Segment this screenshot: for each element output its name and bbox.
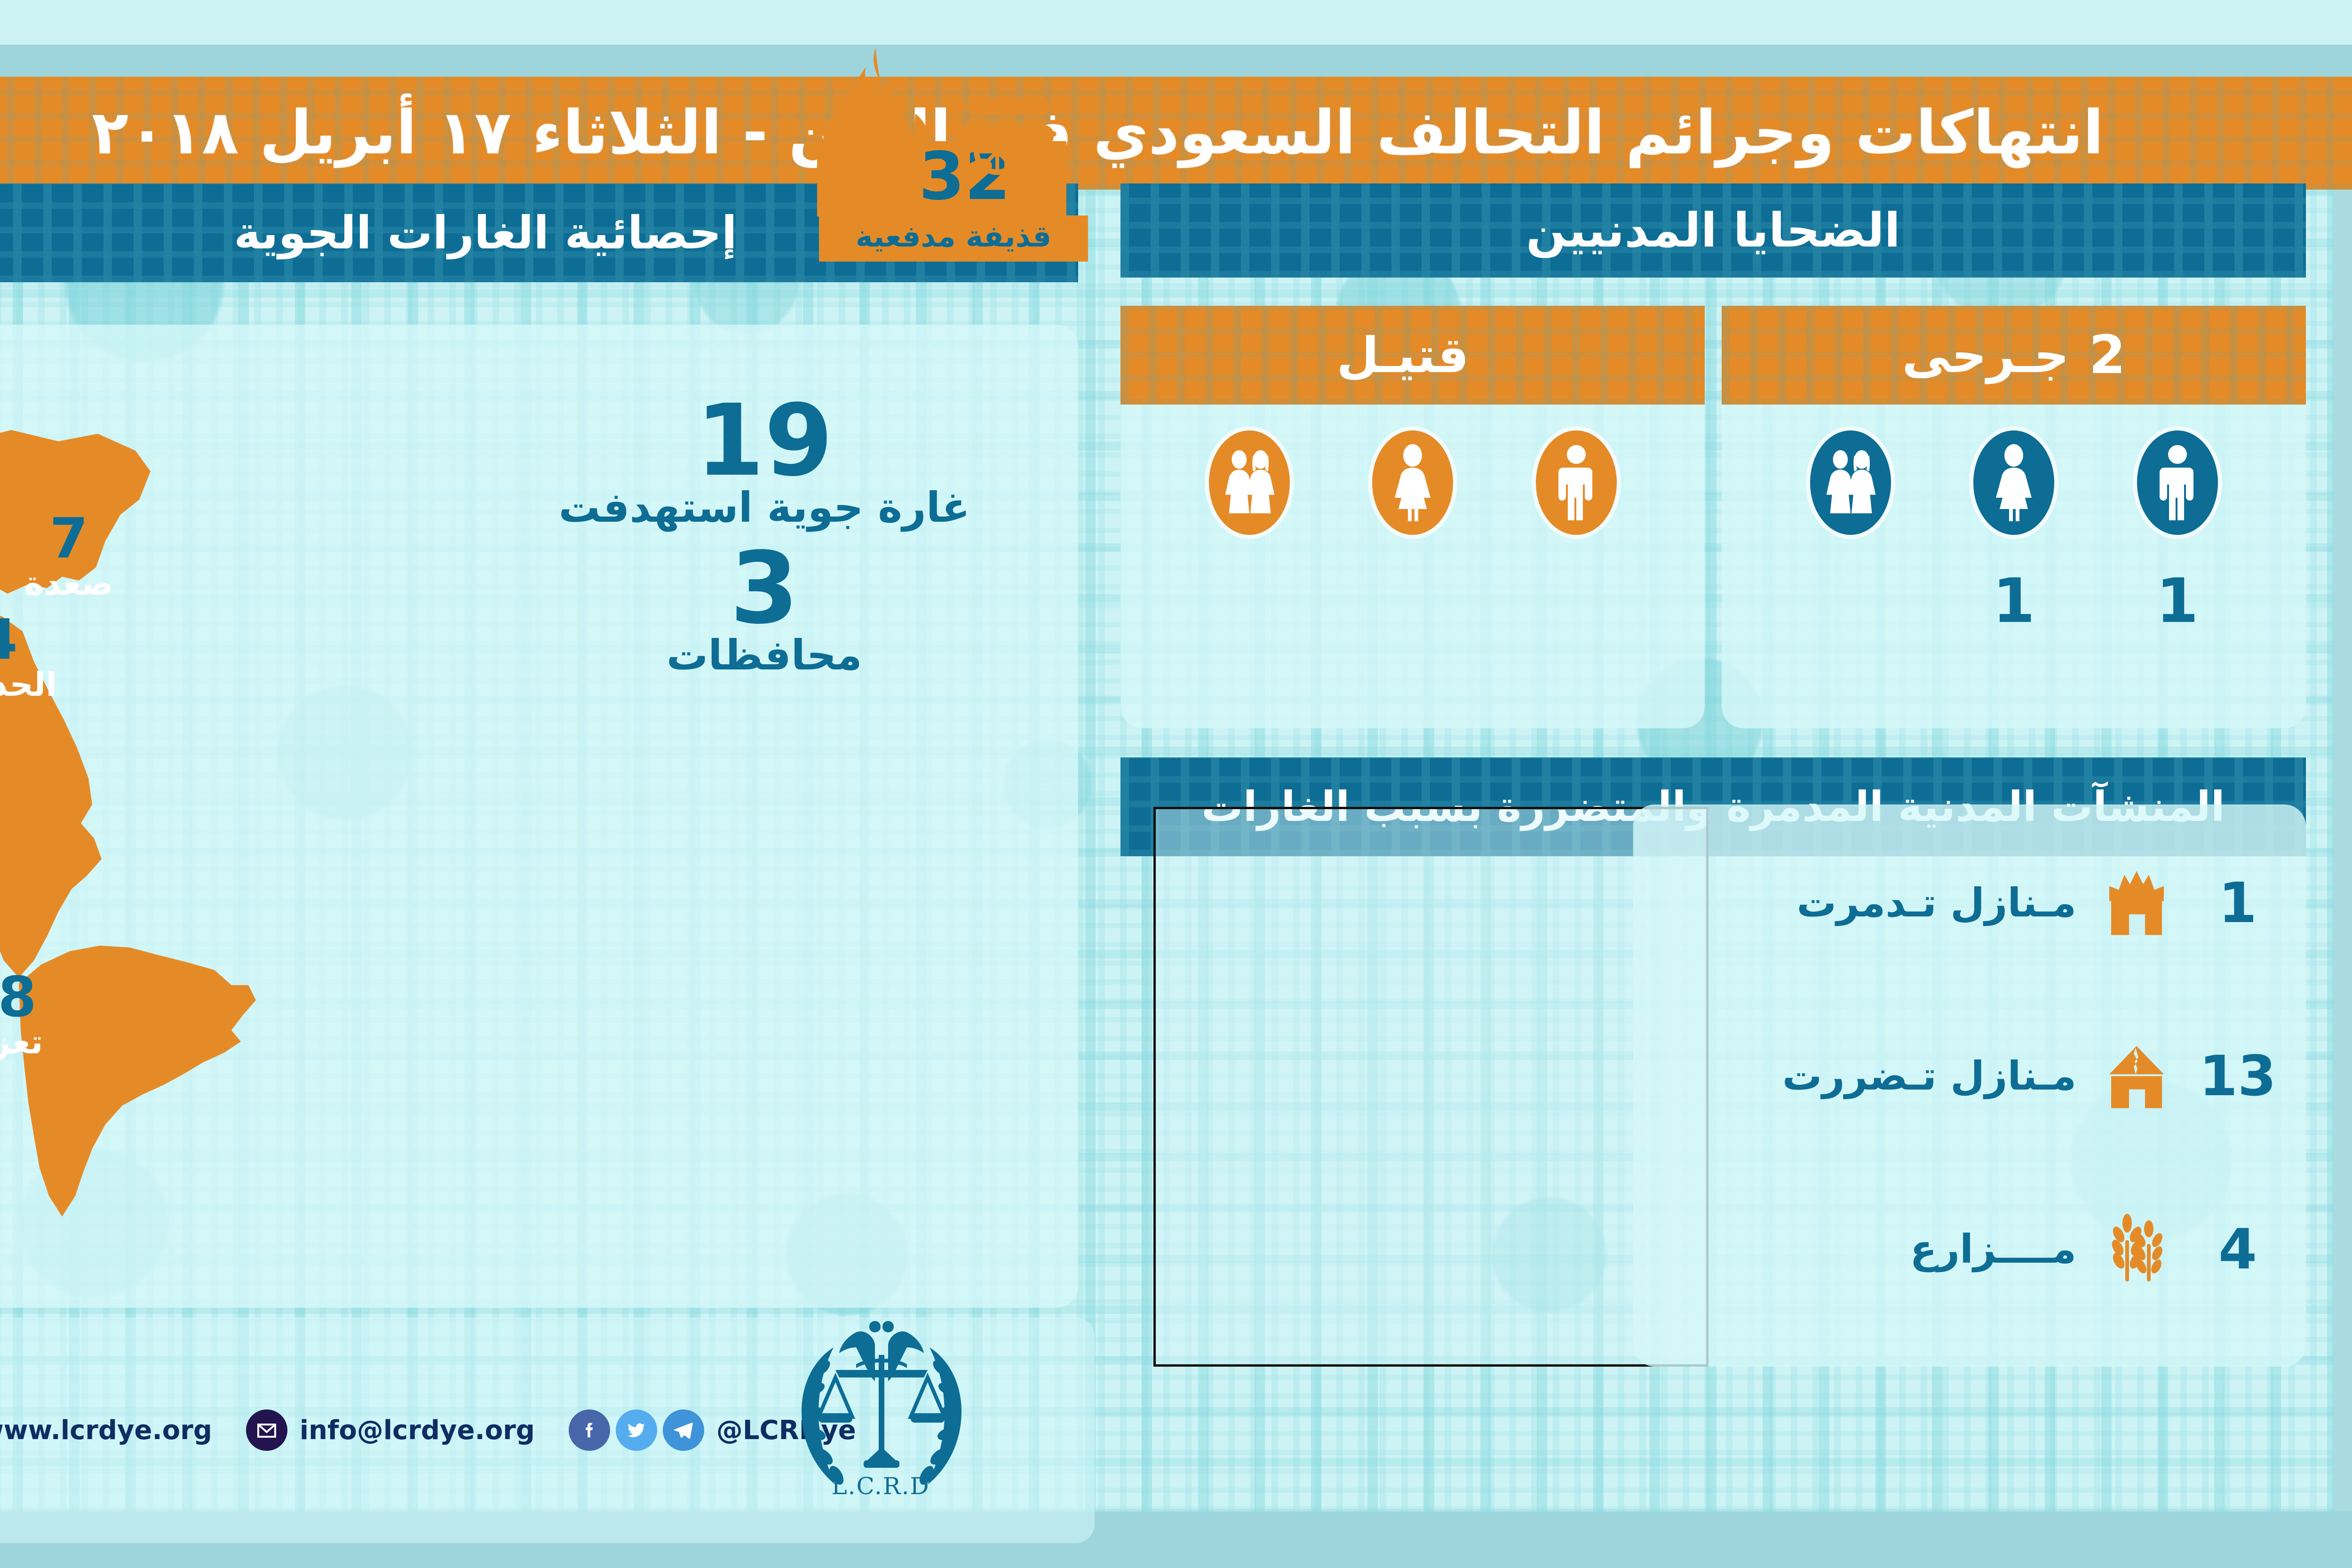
facilities-label-homes-destroyed: مـنازل تـدمرت (1797, 880, 2076, 926)
envelope-icon (246, 1409, 287, 1451)
killed-label: قتيـل (1336, 331, 1469, 380)
map-marker-hudaydah-count: 4 (0, 612, 57, 667)
killed-cell-woman (1356, 426, 1469, 570)
map-marker-hudaydah: 4 الحديدة (0, 612, 57, 701)
woman-icon (1368, 426, 1457, 539)
children-icon (1205, 426, 1294, 539)
social-icons (569, 1409, 704, 1451)
man-icon (1532, 426, 1621, 539)
facilities-list: 1 مـنازل تـدمرت 13 مـنازل تـضر (1633, 816, 2306, 1336)
casualties-group-wounded: جـرحى 2 1 (1722, 306, 2306, 729)
casualties-row: جـرحى 2 1 (1120, 306, 2306, 729)
facilities-image-placeholder (1153, 807, 1708, 1367)
wounded-icon-row: 1 1 (1722, 426, 2306, 631)
facilities-row-homes-damaged: 13 مـنازل تـضررت (1633, 989, 2306, 1162)
children-icon (1806, 426, 1895, 539)
house-damaged-icon (2097, 1042, 2177, 1110)
facilities-count-farms: 4 (2198, 1221, 2278, 1277)
map-marker-taiz-name: تعز (0, 1026, 43, 1059)
wheat-icon (2097, 1214, 2177, 1284)
logo-abbrev: L.C.R.D (831, 1472, 930, 1500)
mortar-shells-badge: 132 قذيفة مدفعية (817, 141, 1066, 262)
facilities-label-homes-damaged: مـنازل تـضررت (1782, 1053, 2076, 1099)
killed-cell-children (1193, 426, 1306, 570)
footer-email[interactable]: info@lcrdye.org (246, 1409, 535, 1451)
wounded-count-man: 1 (2121, 570, 2234, 631)
victims-section-header: الضحايا المدنيين (1120, 183, 2306, 278)
airstrike-label: غارة جوية استهدفت (559, 486, 970, 529)
facilities-row-farms: 4 (1633, 1162, 2306, 1336)
map-marker-hudaydah-name: الحديدة (0, 668, 57, 701)
page-header: انتهاكات وجرائم التحالف السعودي في اليمن… (0, 77, 2352, 190)
governorate-label: محافظات (559, 634, 970, 677)
killed-body (1120, 405, 1705, 728)
footer: www.lcrdye.org info@lcrdye.org (0, 1317, 1095, 1543)
frame-band-right (2333, 0, 2352, 1568)
facilities-count-homes-destroyed: 1 (2198, 875, 2278, 931)
casualties-group-killed: قتيـل (1120, 306, 1705, 729)
footer-website[interactable]: www.lcrdye.org (0, 1409, 212, 1451)
airstrike-counters: 19 غارة جوية استهدفت 3 محافظات (559, 395, 970, 677)
map-marker-saada-count: 7 (24, 510, 113, 566)
house-destroyed-icon (2097, 869, 2177, 937)
map-marker-saada-name: صعدة (24, 567, 113, 600)
cannon-icon (928, 86, 1069, 177)
airstrike-count: 19 (559, 395, 970, 486)
flame-icon (814, 40, 932, 244)
governorate-count: 3 (559, 543, 970, 634)
footer-website-text: www.lcrdye.org (0, 1415, 212, 1446)
frame-band-top-accent (0, 45, 2352, 77)
killed-header: قتيـل (1120, 306, 1705, 405)
wounded-cell-woman: 1 (1957, 426, 2070, 631)
wounded-total: 2 (2089, 329, 2126, 382)
map-marker-taiz-count: 8 (0, 969, 43, 1025)
telegram-icon[interactable] (663, 1409, 704, 1451)
yemen-map: 7 صعدة 4 الحديدة 8 تعز (0, 409, 326, 1303)
map-marker-saada: 7 صعدة (24, 510, 113, 600)
wounded-label: جـرحى (1902, 331, 2069, 380)
twitter-icon[interactable] (616, 1409, 657, 1451)
woman-icon (1969, 426, 2058, 539)
facilities-label-farms: مــــزارع (1910, 1226, 2076, 1272)
man-icon (2133, 426, 2222, 539)
map-region-taiz (19, 946, 256, 1217)
facebook-icon[interactable] (569, 1409, 610, 1451)
airstrikes-section-title: إحصائية الغارات الجوية (234, 210, 737, 255)
wounded-body: 1 1 (1722, 405, 2306, 728)
killed-icon-row (1120, 426, 1705, 570)
footer-email-text: info@lcrdye.org (300, 1415, 535, 1446)
victims-section-title: الضحايا المدنيين (1526, 207, 1900, 254)
page-title: انتهاكات وجرائم التحالف السعودي في اليمن… (92, 103, 2104, 163)
wounded-count-woman: 1 (1957, 570, 2070, 631)
lcrd-logo: L.C.R.D (777, 1298, 984, 1515)
wounded-header: جـرحى 2 (1722, 306, 2306, 405)
wounded-cell-children (1794, 426, 1907, 570)
facilities-row-homes-destroyed: 1 مـنازل تـدمرت (1633, 816, 2306, 989)
frame-band-top (0, 0, 2352, 45)
map-marker-taiz: 8 تعز (0, 969, 43, 1059)
airstrikes-card: 7 صعدة 4 الحديدة 8 تعز 19 غارة جوية استه… (0, 325, 1078, 1308)
victims-column: الضحايا المدنيين جـرحى 2 (1120, 183, 2306, 1369)
wounded-cell-man: 1 (2121, 426, 2234, 631)
killed-cell-man (1520, 426, 1633, 570)
facilities-count-homes-damaged: 13 (2198, 1048, 2278, 1104)
